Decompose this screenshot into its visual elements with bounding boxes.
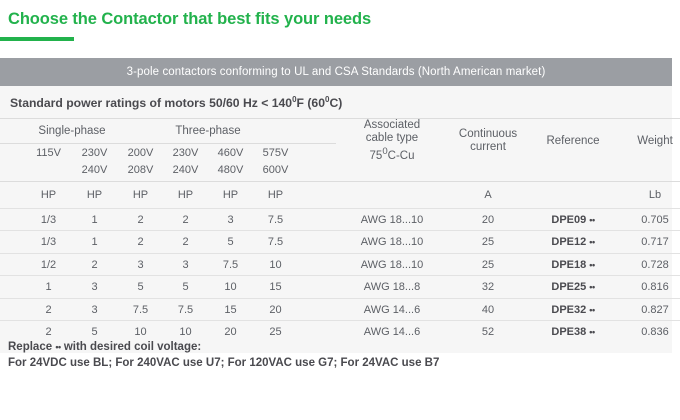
cell-hp-230v-3p: 2 [163, 231, 208, 254]
voltage-row-secondary: 240V 208V 240V 480V 600V [0, 163, 680, 182]
voltage2-blank [26, 163, 71, 182]
group-three-phase: Three-phase [118, 119, 298, 143]
footer-prefix: Replace [8, 341, 55, 353]
unit-hp-4: HP [163, 182, 208, 208]
cell-weight: 0.816 [618, 276, 680, 299]
cell-cable-type: AWG 14...6 [336, 298, 448, 321]
cell-hp-200v: 2 [118, 208, 163, 231]
cell-hp-115v: 1/3 [26, 231, 71, 254]
cell-hp-575v: 7.5 [253, 208, 298, 231]
row-gap [298, 231, 336, 254]
cell-continuous-current: 20 [448, 208, 528, 231]
cell-hp-230v: 2 [71, 253, 118, 276]
unit-hp-5: HP [208, 182, 253, 208]
voltage2-600v: 600V [253, 163, 298, 182]
cell-weight: 0.836 [618, 321, 680, 344]
header-current-line2: current [448, 141, 528, 154]
group-header-row: Single-phase Three-phase Associated cabl… [0, 119, 680, 143]
table-row: 13551015AWG 18...832DPE25 ••0.816 [0, 276, 680, 299]
unit-cable-blank [336, 182, 448, 208]
cell-cable-type: AWG 18...8 [336, 276, 448, 299]
voltage-575v: 575V [253, 144, 298, 163]
unit-hp-2: HP [71, 182, 118, 208]
voltage2-480v: 480V [208, 163, 253, 182]
cell-continuous-current: 25 [448, 231, 528, 254]
voltage-115v: 115V [26, 144, 71, 163]
cell-hp-115v: 1 [26, 276, 71, 299]
reference-code: DPE38 [551, 326, 586, 338]
panel-subtitle: Standard power ratings of motors 50/60 H… [0, 86, 672, 118]
unit-ref-blank [528, 182, 618, 208]
unit-gap [298, 182, 336, 208]
specs-panel: 3-pole contactors conforming to UL and C… [0, 58, 672, 353]
cell-hp-230v-3p: 3 [163, 253, 208, 276]
unit-weight-lb: Lb [618, 182, 680, 208]
reference-bullets-icon: •• [589, 260, 594, 270]
cell-reference: DPE25 •• [528, 276, 618, 299]
table-row: 1/312237.5AWG 18...1020DPE09 ••0.705 [0, 208, 680, 231]
table-row: 1/22337.510AWG 18...1025DPE18 ••0.728 [0, 253, 680, 276]
row-gap [298, 208, 336, 231]
cell-continuous-current: 40 [448, 298, 528, 321]
header-continuous-current: Continuous current [448, 119, 528, 163]
cell-reference: DPE12 •• [528, 231, 618, 254]
reference-bullets-icon: •• [589, 237, 594, 247]
cell-hp-200v: 2 [118, 231, 163, 254]
voltage2-208v: 208V [118, 163, 163, 182]
header-cable-unit: C-Cu [388, 150, 415, 162]
row-spacer [0, 276, 26, 299]
row-spacer [0, 253, 26, 276]
cell-continuous-current: 52 [448, 321, 528, 344]
voltage2-240v: 240V [71, 163, 118, 182]
reference-bullets-icon: •• [589, 305, 594, 315]
cell-weight: 0.705 [618, 208, 680, 231]
cell-hp-575v: 15 [253, 276, 298, 299]
header-weight: Weight [618, 119, 680, 163]
cell-hp-230v: 1 [71, 231, 118, 254]
unit-hp-3: HP [118, 182, 163, 208]
group-spacer [0, 119, 26, 143]
title-underline-rule [0, 37, 74, 41]
footer-suffix: with desired coil voltage: [61, 341, 202, 353]
cell-hp-230v-3p: 2 [163, 208, 208, 231]
cell-reference: DPE09 •• [528, 208, 618, 231]
row-spacer [0, 298, 26, 321]
cell-hp-460v: 15 [208, 298, 253, 321]
cell-hp-460v: 5 [208, 231, 253, 254]
voltage2-240v-3p: 240V [163, 163, 208, 182]
unit-row: HP HP HP HP HP HP A Lb [0, 182, 680, 208]
reference-code: DPE25 [551, 281, 586, 293]
cell-hp-230v-3p: 7.5 [163, 298, 208, 321]
row-spacer [0, 231, 26, 254]
footer-line-1: Replace •• with desired coil voltage: [8, 339, 439, 355]
cell-hp-115v: 2 [26, 298, 71, 321]
voltage2-ref-pad [528, 163, 618, 182]
page-root: Choose the Contactor that best fits your… [0, 0, 680, 420]
reference-bullets-icon: •• [589, 327, 594, 337]
page-title: Choose the Contactor that best fits your… [8, 10, 371, 29]
group-gap [298, 119, 336, 143]
header-cable-line3: 750C-Cu [336, 145, 448, 163]
header-cable-temp: 75 [370, 150, 383, 162]
group-single-phase: Single-phase [26, 119, 118, 143]
cell-cable-type: AWG 18...10 [336, 208, 448, 231]
cell-hp-575v: 10 [253, 253, 298, 276]
reference-bullets-icon: •• [589, 215, 594, 225]
cell-weight: 0.827 [618, 298, 680, 321]
cell-hp-230v: 3 [71, 298, 118, 321]
header-cable-type: Associated cable type 750C-Cu [336, 119, 448, 163]
reference-code: DPE18 [551, 259, 586, 271]
table-row: 1/312257.5AWG 18...1025DPE12 ••0.717 [0, 231, 680, 254]
header-current-line1: Continuous [448, 128, 528, 141]
voltage-230v-3p: 230V [163, 144, 208, 163]
voltage-460v: 460V [208, 144, 253, 163]
row-spacer [0, 208, 26, 231]
voltage2-spacer [0, 163, 26, 182]
table-body: 1/312237.5AWG 18...1020DPE09 ••0.7051/31… [0, 208, 680, 343]
reference-bullets-icon: •• [589, 282, 594, 292]
voltage2-gap [298, 163, 336, 182]
cell-hp-230v: 3 [71, 276, 118, 299]
cell-cable-type: AWG 18...10 [336, 253, 448, 276]
reference-code: DPE09 [551, 214, 586, 226]
unit-amp: A [448, 182, 528, 208]
table-row: 237.57.51520AWG 14...640DPE32 ••0.827 [0, 298, 680, 321]
row-gap [298, 253, 336, 276]
voltage2-current-pad [448, 163, 528, 182]
voltage2-weight-pad [618, 163, 680, 182]
header-cable-line1: Associated [336, 119, 448, 132]
unit-hp-6: HP [253, 182, 298, 208]
voltage-gap [298, 144, 336, 163]
voltage-230v: 230V [71, 144, 118, 163]
panel-banner: 3-pole contactors conforming to UL and C… [0, 58, 672, 86]
row-gap [298, 298, 336, 321]
cell-reference: DPE32 •• [528, 298, 618, 321]
cell-cable-type: AWG 18...10 [336, 231, 448, 254]
cell-hp-200v: 5 [118, 276, 163, 299]
subtitle-suffix: C) [329, 96, 342, 110]
header-cable-line2: cable type [336, 132, 448, 145]
cell-hp-230v-3p: 5 [163, 276, 208, 299]
cell-hp-460v: 7.5 [208, 253, 253, 276]
header-reference: Reference [528, 119, 618, 163]
subtitle-mid: F (60 [297, 96, 325, 110]
row-gap [298, 276, 336, 299]
contactor-specs-table: Single-phase Three-phase Associated cabl… [0, 118, 680, 343]
voltage-200v: 200V [118, 144, 163, 163]
cell-hp-200v: 7.5 [118, 298, 163, 321]
subtitle-prefix: Standard power ratings of motors 50/60 H… [10, 96, 292, 110]
unit-spacer [0, 182, 26, 208]
cell-reference: DPE18 •• [528, 253, 618, 276]
voltage-spacer [0, 144, 26, 163]
cell-hp-115v: 1/2 [26, 253, 71, 276]
cell-hp-200v: 3 [118, 253, 163, 276]
cell-hp-115v: 1/3 [26, 208, 71, 231]
cell-continuous-current: 32 [448, 276, 528, 299]
cell-hp-575v: 7.5 [253, 231, 298, 254]
reference-code: DPE32 [551, 304, 586, 316]
reference-code: DPE12 [551, 236, 586, 248]
footer-note: Replace •• with desired coil voltage: Fo… [8, 339, 439, 371]
voltage2-cable-pad [336, 163, 448, 182]
cell-hp-230v: 1 [71, 208, 118, 231]
cell-weight: 0.728 [618, 253, 680, 276]
cell-hp-575v: 20 [253, 298, 298, 321]
unit-hp-1: HP [26, 182, 71, 208]
cell-weight: 0.717 [618, 231, 680, 254]
footer-line-2: For 24VDC use BL; For 240VAC use U7; For… [8, 355, 439, 371]
cell-hp-460v: 3 [208, 208, 253, 231]
cell-reference: DPE38 •• [528, 321, 618, 344]
cell-hp-460v: 10 [208, 276, 253, 299]
cell-continuous-current: 25 [448, 253, 528, 276]
